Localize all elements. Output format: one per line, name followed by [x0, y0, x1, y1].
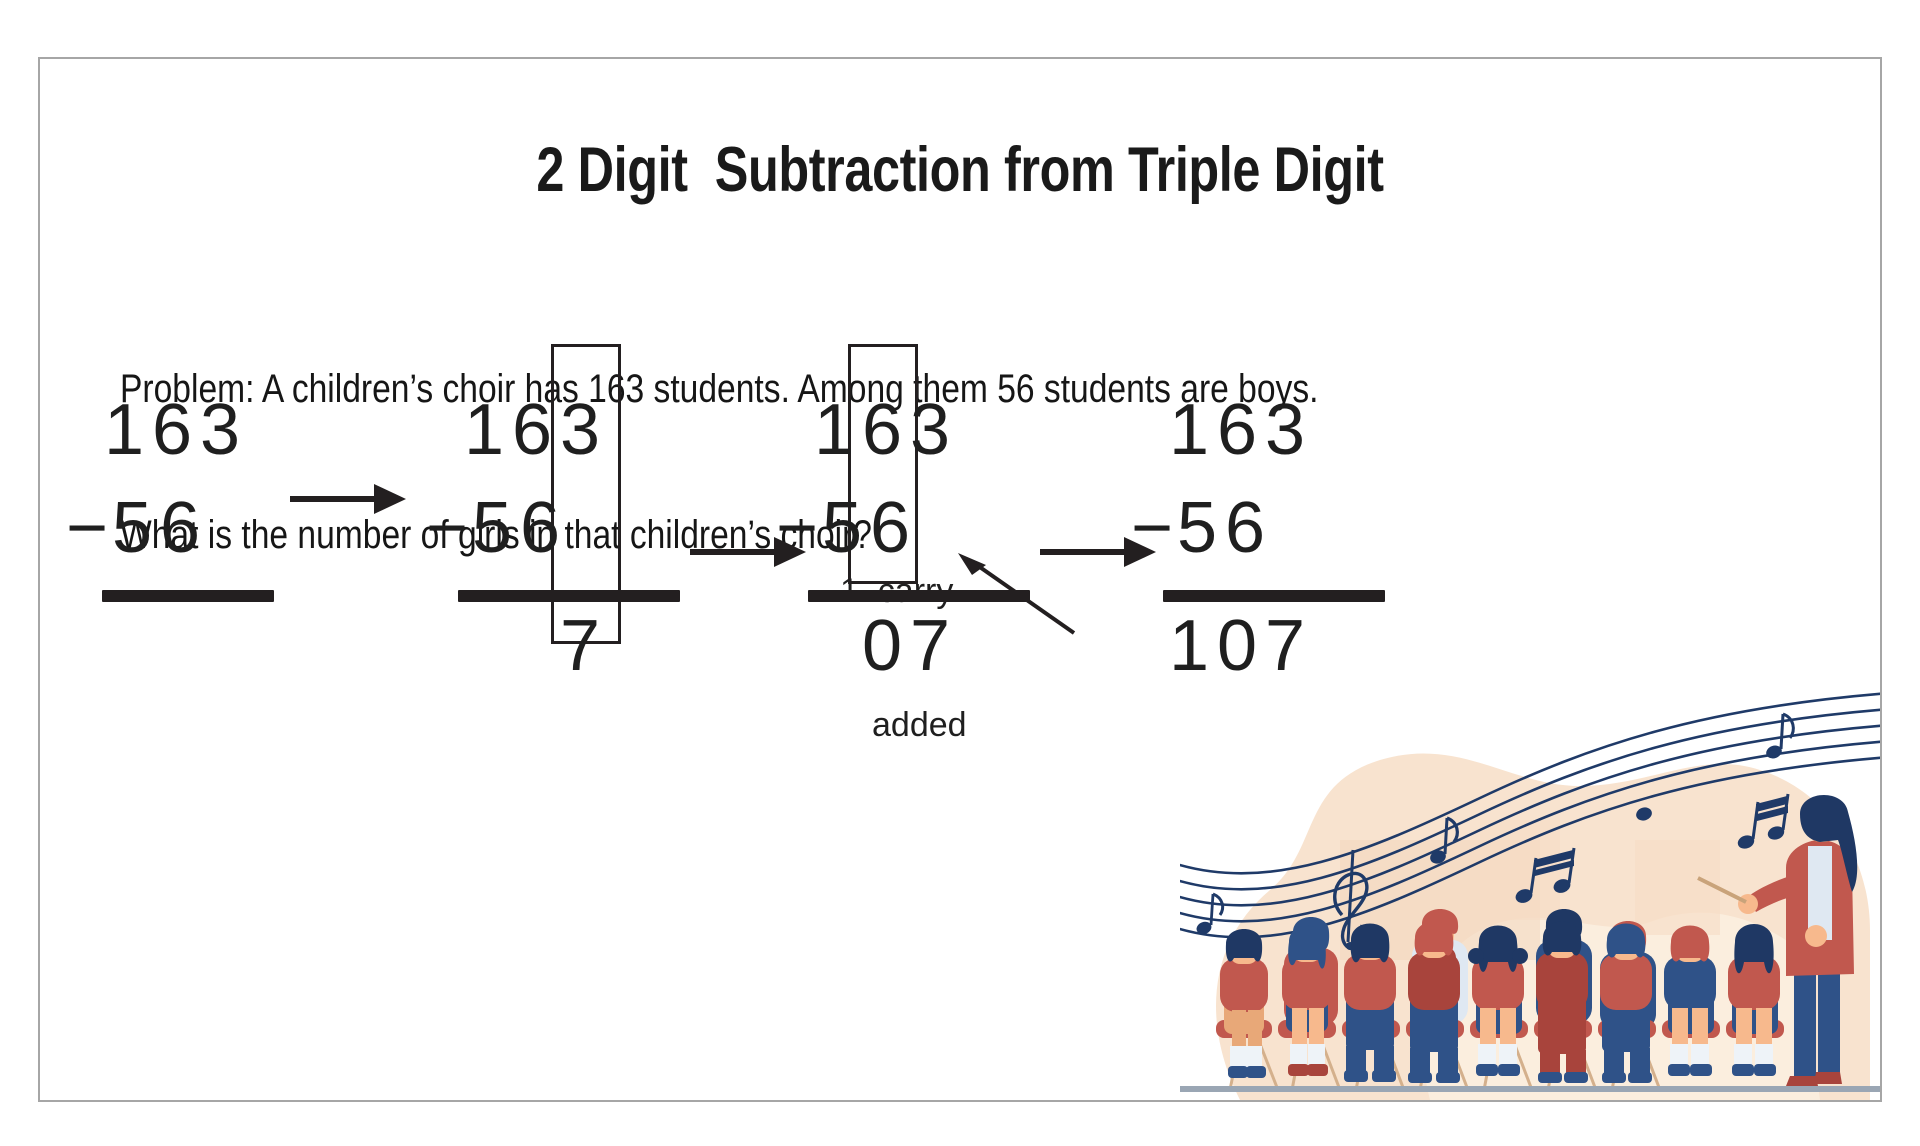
conductor-hand-left — [1738, 894, 1758, 914]
step2-minuend-row: 1 6 3 — [460, 394, 604, 466]
digit: 5 — [468, 492, 516, 564]
digit: 3 — [556, 394, 604, 466]
digit: 5 — [108, 492, 156, 564]
digit: 1 — [460, 394, 508, 466]
digit: 1 — [1165, 610, 1213, 682]
digit: 7 — [1261, 610, 1309, 682]
digit: 6 — [516, 492, 564, 564]
digit: 1 — [810, 394, 858, 466]
step1-minuend-row: 1 6 3 — [100, 394, 244, 466]
arrow-shaft — [690, 549, 776, 555]
digit: 6 — [866, 492, 914, 564]
digit: 6 — [156, 492, 204, 564]
minus-operator: − — [1131, 492, 1173, 564]
stage-floor — [1180, 1086, 1880, 1092]
step3-answer-rule — [808, 590, 1030, 602]
slide-frame: 2 Digit Subtraction from Triple Digit Pr… — [38, 57, 1882, 1102]
digit: 5 — [818, 492, 866, 564]
digit: 1 — [1165, 394, 1213, 466]
step4-subtrahend-row: − 5 6 — [1131, 492, 1269, 564]
digit: 7 — [556, 610, 604, 682]
digit: 1 — [100, 394, 148, 466]
digit: 6 — [1213, 394, 1261, 466]
digit: 5 — [1173, 492, 1221, 564]
subtraction-step-4: 1 6 3 − 5 6 1 0 7 — [1165, 394, 1445, 714]
digit: 7 — [906, 610, 954, 682]
step3-minuend-row: 1 6 3 — [810, 394, 954, 466]
page-title: 2 Digit Subtraction from Triple Digit — [224, 134, 1696, 206]
conductor-shoe-left — [1786, 1076, 1818, 1086]
digit: 6 — [148, 394, 196, 466]
conductor-leg-right — [1818, 972, 1840, 1076]
conductor-shoe-right — [1814, 1072, 1842, 1084]
digit: 3 — [906, 394, 954, 466]
step2-result-row: 7 — [556, 610, 604, 682]
digit: 3 — [196, 394, 244, 466]
flow-arrow-1 — [290, 484, 406, 514]
step3-result-row: 0 7 — [858, 610, 954, 682]
subtraction-step-1: 1 6 3 − 5 6 — [100, 394, 360, 664]
choir-front-row — [1216, 922, 1784, 1084]
step2-subtrahend-row: − 5 6 — [426, 492, 564, 564]
minus-operator: − — [776, 492, 818, 564]
digit: 0 — [1213, 610, 1261, 682]
digit: 6 — [508, 394, 556, 466]
arrow-shaft — [290, 496, 376, 502]
step2-answer-rule — [458, 590, 680, 602]
step1-subtrahend-row: − 5 6 — [66, 492, 204, 564]
choir-illustration-svg — [1180, 690, 1880, 1100]
step1-answer-rule — [102, 590, 274, 602]
step4-answer-rule — [1163, 590, 1385, 602]
slide-canvas: 2 Digit Subtraction from Triple Digit Pr… — [0, 0, 1920, 1146]
minus-operator: − — [66, 492, 108, 564]
arrow-shaft — [1040, 549, 1126, 555]
minus-operator: − — [426, 492, 468, 564]
step3-subtrahend-row: − 5 6 — [776, 492, 914, 564]
digit: 6 — [858, 394, 906, 466]
step4-minuend-row: 1 6 3 — [1165, 394, 1309, 466]
digit: 6 — [1221, 492, 1269, 564]
digit: 0 — [858, 610, 906, 682]
conductor-hand-right — [1805, 925, 1827, 947]
digit: 3 — [1261, 394, 1309, 466]
arrow-head — [374, 484, 406, 514]
choir-illustration — [1180, 690, 1880, 1100]
conductor-leg-left — [1794, 972, 1816, 1080]
step4-result-row: 1 0 7 — [1165, 610, 1309, 682]
